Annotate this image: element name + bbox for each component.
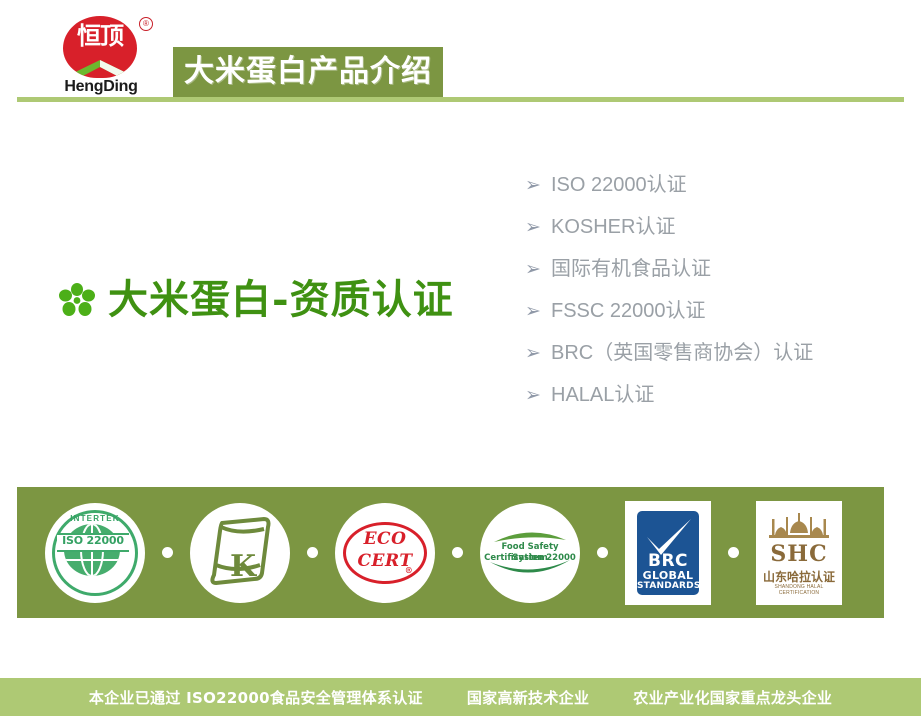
arrow-bullet-icon: ➢	[525, 338, 551, 368]
footer-item-iso: 本企业已通过 ISO22000食品安全管理体系认证	[89, 687, 423, 708]
badge-row: ISO 22000 INTERTEK K ECO CERT ®	[17, 487, 884, 618]
brc-line1: BRC	[637, 551, 699, 571]
logo-brand-name: HengDing	[47, 78, 155, 96]
fssc-logo-icon: Food Safety System Certification 22000	[484, 522, 576, 584]
page-title: 大米蛋白产品介绍	[173, 47, 443, 97]
list-item: ➢ HALAL认证	[525, 380, 905, 422]
badge-fssc-22000: Food Safety System Certification 22000	[480, 503, 580, 603]
registered-trademark-icon: ®	[139, 17, 153, 31]
arrow-bullet-icon: ➢	[525, 380, 551, 410]
section-title: 大米蛋白-资质认证	[108, 270, 454, 330]
list-item: ➢ 国际有机食品认证	[525, 254, 905, 296]
intertek-ring-icon: ISO 22000 INTERTEK	[52, 510, 138, 596]
ecocert-registered-icon: ®	[370, 565, 448, 575]
arrow-bullet-icon: ➢	[525, 212, 551, 242]
badge-separator-dot	[307, 547, 318, 558]
badge-separator-dot	[162, 547, 173, 558]
list-item-label: KOSHER认证	[551, 212, 675, 242]
kosher-letter: K	[230, 549, 256, 584]
list-item-label: FSSC 22000认证	[551, 296, 706, 326]
brc-panel-icon: BRC GLOBAL STANDARDS	[637, 511, 699, 595]
shc-logo-icon: SHC 山东哈拉认证 SHANDONG HALAL CERTIFICATION	[759, 505, 839, 601]
badge-separator-dot	[597, 547, 608, 558]
shc-acronym: SHC	[759, 541, 839, 567]
logo-mark-text: 恒顶	[63, 24, 137, 48]
footer-item-leading-enterprise: 农业产业化国家重点龙头企业	[633, 687, 832, 708]
arrow-bullet-icon: ➢	[525, 254, 551, 284]
arrow-bullet-icon: ➢	[525, 170, 551, 200]
certification-badge-band: ISO 22000 INTERTEK K ECO CERT ®	[17, 487, 884, 618]
list-item-label: HALAL认证	[551, 380, 654, 410]
badge-ecocert: ECO CERT ®	[335, 503, 435, 603]
list-item: ➢ KOSHER认证	[525, 212, 905, 254]
shc-chinese-text: 山东哈拉认证	[759, 568, 839, 585]
list-item-label: BRC（英国零售商协会）认证	[551, 338, 813, 368]
page-footer: 本企业已通过 ISO22000食品安全管理体系认证 国家高新技术企业 农业产业化…	[0, 678, 921, 716]
shc-english-text: SHANDONG HALAL CERTIFICATION	[759, 584, 839, 596]
page-header: 恒顶 ® HengDing 大米蛋白产品介绍	[0, 0, 921, 101]
header-divider	[17, 97, 904, 102]
badge-separator-dot	[452, 547, 463, 558]
list-item-label: 国际有机食品认证	[551, 254, 711, 284]
brc-line3: STANDARDS	[637, 581, 699, 591]
logo-roof-icon	[63, 58, 137, 78]
company-logo: 恒顶 ® HengDing	[47, 16, 155, 96]
section-heading: 大米蛋白-资质认证	[58, 270, 478, 330]
certification-list: ➢ ISO 22000认证 ➢ KOSHER认证 ➢ 国际有机食品认证 ➢ FS…	[525, 170, 905, 422]
list-item: ➢ FSSC 22000认证	[525, 296, 905, 338]
list-item-label: ISO 22000认证	[551, 170, 687, 200]
flower-bullet-icon	[58, 282, 96, 320]
badge-kosher: K	[190, 503, 290, 603]
list-item: ➢ ISO 22000认证	[525, 170, 905, 212]
intertek-center-text: ISO 22000	[55, 533, 131, 548]
fssc-line2: Certification 22000	[484, 553, 576, 564]
ecocert-line1: ECO	[346, 529, 424, 549]
logo-circle-icon: 恒顶	[63, 16, 137, 78]
badge-intertek-iso22000: ISO 22000 INTERTEK	[45, 503, 145, 603]
badge-shc-halal: SHC 山东哈拉认证 SHANDONG HALAL CERTIFICATION	[756, 501, 842, 605]
page-title-box: 大米蛋白产品介绍	[173, 47, 443, 97]
arrow-bullet-icon: ➢	[525, 296, 551, 326]
intertek-top-text: INTERTEK	[55, 514, 135, 523]
badge-separator-dot	[728, 547, 739, 558]
footer-content: 本企业已通过 ISO22000食品安全管理体系认证 国家高新技术企业 农业产业化…	[0, 678, 921, 716]
badge-brc-global-standards: BRC GLOBAL STANDARDS	[625, 501, 711, 605]
footer-item-hightech: 国家高新技术企业	[467, 687, 589, 708]
list-item: ➢ BRC（英国零售商协会）认证	[525, 338, 905, 380]
ecocert-ellipse-icon: ECO CERT ®	[343, 522, 427, 584]
